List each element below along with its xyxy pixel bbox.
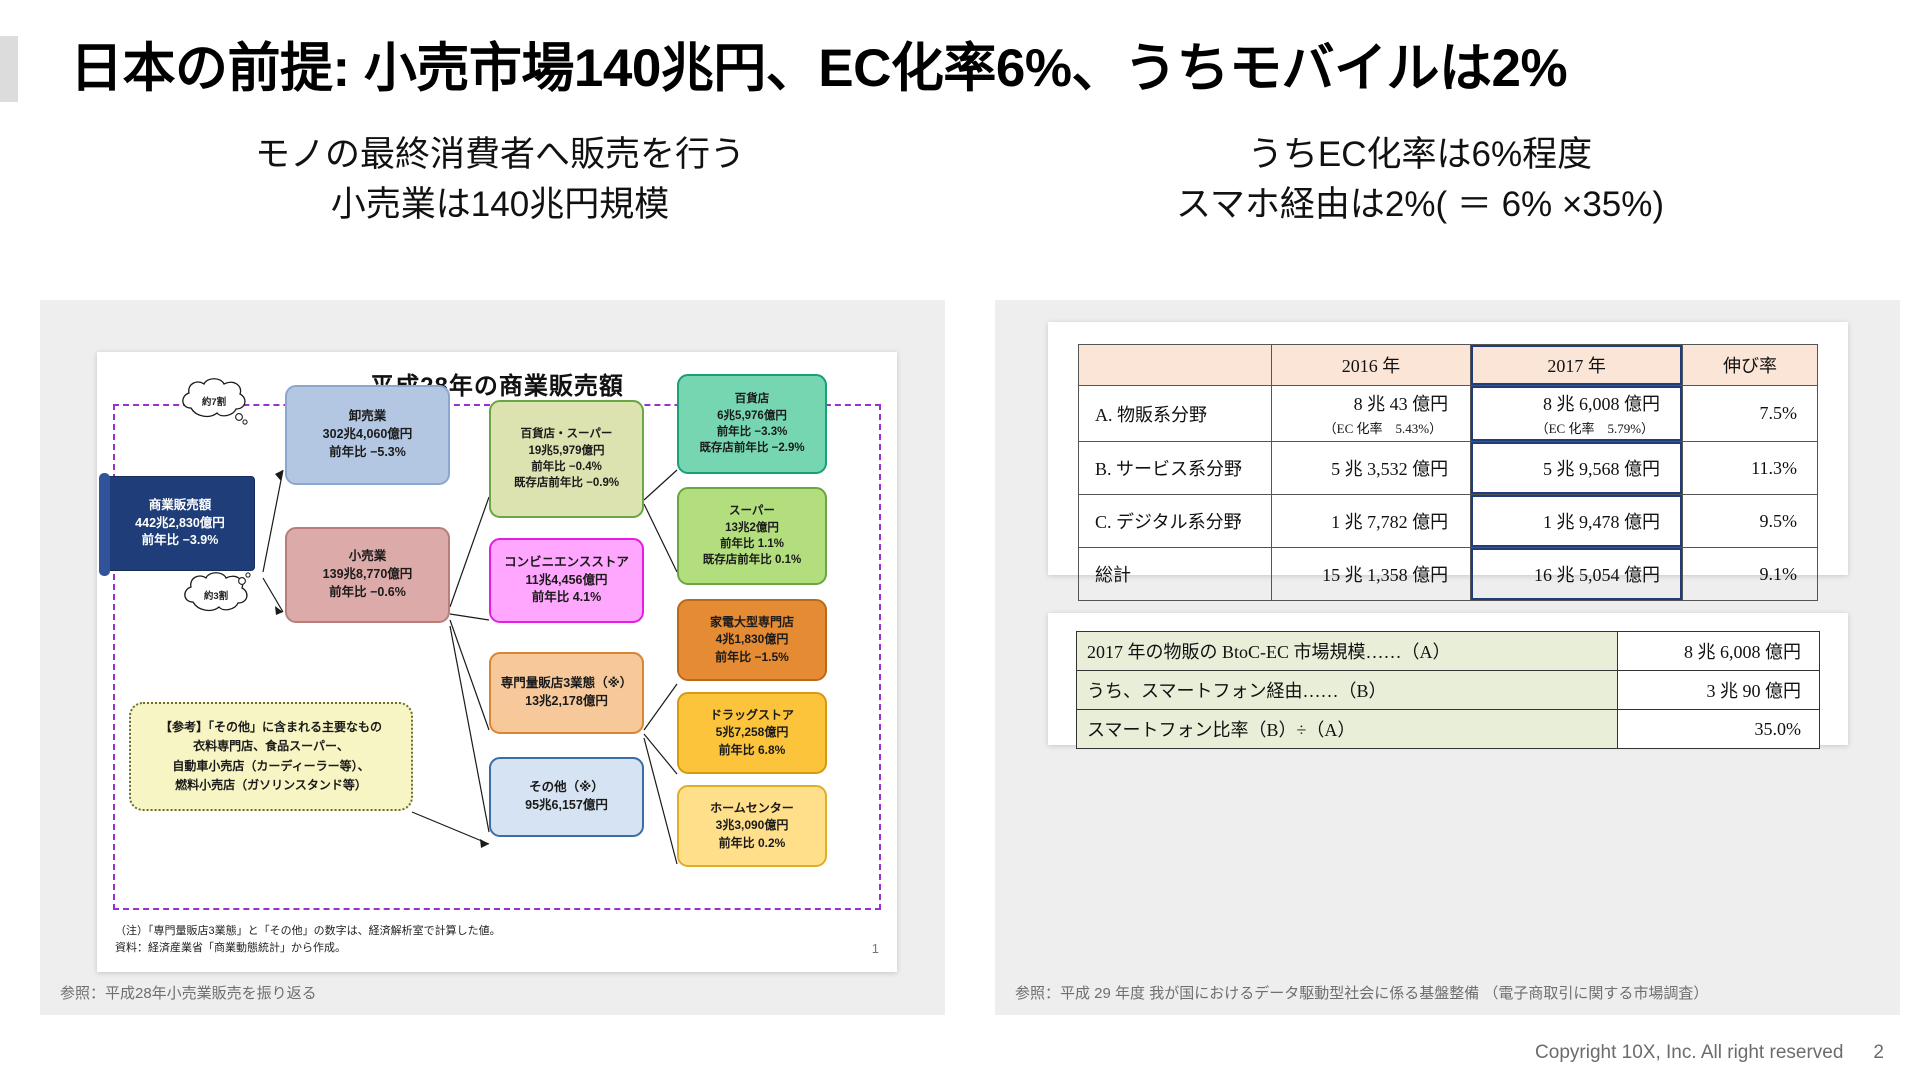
slide-footer: Copyright 10X, Inc. All right reserved 2	[1535, 1042, 1884, 1064]
reference-line-4: 燃料小売店（ガソリンスタンド等）	[175, 776, 367, 795]
cell-value: 8 兆 43 億円	[1354, 394, 1449, 414]
node-label: スーパー	[729, 503, 775, 519]
page-title: 日本の前提: 小売市場140兆円、EC化率6%、うちモバイルは2%	[70, 26, 1870, 112]
cell-b-2016: 5 兆 3,532 億円	[1271, 442, 1470, 495]
ec-market-table-card: 2016 年 2017 年 伸び率 A. 物販系分野 8 兆 43 億円 （EC…	[1048, 322, 1848, 575]
node-label: 家電大型専門店	[710, 614, 794, 631]
sub-row-label-b: うち、スマートフォン経由……（B）	[1077, 671, 1618, 710]
cell-c-2016: 1 兆 7,782 億円	[1271, 495, 1470, 548]
retail-flow-diagram: 約7割 約3割 商業販売額 442兆2,830億円 前年比 −3.9% 卸売業 …	[97, 352, 897, 972]
node-value: 4兆1,830億円	[716, 631, 789, 648]
cell-value: 8 兆 6,008 億円	[1543, 394, 1660, 414]
node-label: その他（※）	[529, 779, 604, 797]
slide-title-row: 日本の前提: 小売市場140兆円、EC化率6%、うちモバイルは2%	[0, 26, 1920, 112]
th-blank	[1079, 345, 1272, 386]
node-total-commerce: 商業販売額 442兆2,830億円 前年比 −3.9%	[105, 476, 255, 571]
left-panel: 平成28年の商業販売額	[40, 300, 945, 1015]
cell-a-2017: 8 兆 6,008 億円 （EC 化率 5.79%）	[1471, 386, 1683, 442]
node-existing-yoy: 既存店前年比 −0.9%	[514, 475, 619, 491]
left-subtitle: モノの最終消費者へ販売を行う 小売業は140兆円規模	[40, 130, 960, 229]
node-drugstore: ドラッグストア 5兆7,258億円 前年比 6.8%	[677, 692, 827, 774]
node-existing-yoy: 既存店前年比 0.1%	[703, 552, 801, 568]
diagram-footnotes: （注）「専門量販店3業態」と「その他」の数字は、経済解析室で計算した値。 資料：…	[115, 923, 501, 956]
title-accent-bar	[0, 36, 18, 102]
node-value: 13兆2億円	[725, 520, 779, 536]
node-yoy: 前年比 6.8%	[719, 742, 786, 759]
left-subtitle-line2: 小売業は140兆円規模	[40, 180, 960, 230]
node-yoy: 前年比 −3.9%	[142, 532, 219, 550]
sub-row-value-b: 3 兆 90 億円	[1618, 671, 1820, 710]
table-row: C. デジタル系分野 1 兆 7,782 億円 1 兆 9,478 億円 9.5…	[1079, 495, 1818, 548]
table-row: A. 物販系分野 8 兆 43 億円 （EC 化率 5.43%） 8 兆 6,0…	[1079, 386, 1818, 442]
diagram-page-number: 1	[872, 941, 879, 956]
node-wholesale: 卸売業 302兆4,060億円 前年比 −5.3%	[285, 385, 450, 485]
node-value: 442兆2,830億円	[135, 515, 225, 533]
node-home-center: ホームセンター 3兆3,090億円 前年比 0.2%	[677, 785, 827, 867]
row-label-b: B. サービス系分野	[1079, 442, 1272, 495]
cloud-label-70pct: 約7割	[202, 394, 226, 408]
node-value: 13兆2,178億円	[525, 693, 608, 711]
right-subtitle: うちEC化率は6%程度 スマホ経由は2%( ＝ 6% ×35%)	[960, 130, 1880, 229]
cell-total-2016: 15 兆 1,358 億円	[1271, 548, 1470, 601]
sub-row-value-ratio: 35.0%	[1618, 710, 1820, 749]
node-label: 百貨店	[735, 391, 770, 407]
node-value: 95兆6,157億円	[525, 797, 608, 815]
right-panel-caption: 参照：平成 29 年度 我が国におけるデータ駆動型社会に係る基盤整備 （電子商取…	[1015, 982, 1886, 1003]
node-existing-yoy: 既存店前年比 −2.9%	[699, 440, 804, 456]
sub-row-label-ratio: スマートフォン比率（B）÷（A）	[1077, 710, 1618, 749]
smartphone-share-table: 2017 年の物販の BtoC-EC 市場規模……（A） 8 兆 6,008 億…	[1076, 631, 1820, 749]
left-subtitle-line1: モノの最終消費者へ販売を行う	[40, 130, 960, 180]
node-specialty-mass-retail: 専門量販店3業態（※） 13兆2,178億円	[489, 652, 644, 734]
row-label-total: 総計	[1079, 548, 1272, 601]
th-growth: 伸び率	[1683, 345, 1818, 386]
table-row: B. サービス系分野 5 兆 3,532 億円 5 兆 9,568 億円 11.…	[1079, 442, 1818, 495]
node-yoy: 前年比 1.1%	[720, 536, 784, 552]
right-subtitle-line2: スマホ経由は2%( ＝ 6% ×35%)	[960, 180, 1880, 230]
node-department-supermarket: 百貨店・スーパー 19兆5,979億円 前年比 −0.4% 既存店前年比 −0.…	[489, 400, 644, 518]
slide-page-number: 2	[1873, 1042, 1884, 1064]
node-yoy: 前年比 −1.5%	[715, 649, 789, 666]
copyright-text: Copyright 10X, Inc. All right reserved	[1535, 1042, 1843, 1064]
node-value: 139兆8,770億円	[323, 566, 413, 584]
footnote-line-1: （注）「専門量販店3業態」と「その他」の数字は、経済解析室で計算した値。	[115, 923, 501, 940]
retail-diagram-card: 平成28年の商業販売額	[97, 352, 897, 972]
row-label-c: C. デジタル系分野	[1079, 495, 1272, 548]
table-row: うち、スマートフォン経由……（B） 3 兆 90 億円	[1077, 671, 1820, 710]
table-header-row: 2016 年 2017 年 伸び率	[1079, 345, 1818, 386]
node-label: 卸売業	[349, 408, 387, 426]
cloud-bubble-30pct: 約3割	[179, 570, 253, 620]
cell-total-growth: 9.1%	[1683, 548, 1818, 601]
cell-subnote: （EC 化率 5.79%）	[1481, 418, 1660, 437]
node-department-store: 百貨店 6兆5,976億円 前年比 −3.3% 既存店前年比 −2.9%	[677, 374, 827, 474]
node-value: 5兆7,258億円	[716, 724, 789, 741]
node-value: 302兆4,060億円	[323, 426, 413, 444]
ec-market-table: 2016 年 2017 年 伸び率 A. 物販系分野 8 兆 43 億円 （EC…	[1078, 344, 1818, 601]
reference-note-box: 【参考】「その他」に含まれる主要なもの 衣料専門店、食品スーパー、 自動車小売店…	[129, 702, 413, 811]
table-row: スマートフォン比率（B）÷（A） 35.0%	[1077, 710, 1820, 749]
table-row: 2017 年の物販の BtoC-EC 市場規模……（A） 8 兆 6,008 億…	[1077, 632, 1820, 671]
cloud-label-30pct: 約3割	[204, 588, 228, 602]
node-yoy: 前年比 −3.3%	[717, 424, 788, 440]
left-panel-caption: 参照：平成28年小売業販売を振り返る	[60, 982, 931, 1003]
row-label-a: A. 物販系分野	[1079, 386, 1272, 442]
right-panel: 2016 年 2017 年 伸び率 A. 物販系分野 8 兆 43 億円 （EC…	[995, 300, 1900, 1015]
node-retail: 小売業 139兆8,770億円 前年比 −0.6%	[285, 527, 450, 623]
cell-a-2016: 8 兆 43 億円 （EC 化率 5.43%）	[1271, 386, 1470, 442]
sub-row-label-a: 2017 年の物販の BtoC-EC 市場規模……（A）	[1077, 632, 1618, 671]
node-yoy: 前年比 −5.3%	[329, 444, 406, 462]
node-label: 百貨店・スーパー	[521, 426, 613, 442]
node-label: 商業販売額	[149, 497, 212, 515]
th-2017: 2017 年	[1471, 345, 1683, 386]
node-yoy: 前年比 −0.4%	[531, 459, 602, 475]
smartphone-share-table-card: 2017 年の物販の BtoC-EC 市場規模……（A） 8 兆 6,008 億…	[1048, 613, 1848, 745]
node-value: 11兆4,456億円	[526, 572, 608, 590]
right-subtitle-line1: うちEC化率は6%程度	[960, 130, 1880, 180]
cell-subnote: （EC 化率 5.43%）	[1282, 418, 1448, 437]
footnote-line-2: 資料：経済産業省「商業動態統計」から作成。	[115, 940, 501, 957]
cloud-bubble-70pct: 約7割	[177, 376, 251, 426]
reference-line-1: 【参考】「その他」に含まれる主要なもの	[160, 718, 382, 737]
reference-line-3: 自動車小売店（カーディーラー等）、	[172, 757, 369, 776]
node-label: ホームセンター	[710, 800, 794, 817]
node-supermarket: スーパー 13兆2億円 前年比 1.1% 既存店前年比 0.1%	[677, 487, 827, 585]
node-value: 3兆3,090億円	[716, 817, 789, 834]
cell-b-2017: 5 兆 9,568 億円	[1471, 442, 1683, 495]
reference-line-2: 衣料専門店、食品スーパー、	[193, 737, 349, 756]
sub-row-value-a: 8 兆 6,008 億円	[1618, 632, 1820, 671]
node-yoy: 前年比 −0.6%	[329, 584, 406, 602]
table-row: 総計 15 兆 1,358 億円 16 兆 5,054 億円 9.1%	[1079, 548, 1818, 601]
node-label: ドラッグストア	[710, 707, 794, 724]
cell-c-growth: 9.5%	[1683, 495, 1818, 548]
node-label: 小売業	[349, 548, 387, 566]
th-2016: 2016 年	[1271, 345, 1470, 386]
cell-total-2017: 16 兆 5,054 億円	[1471, 548, 1683, 601]
node-electronics-store: 家電大型専門店 4兆1,830億円 前年比 −1.5%	[677, 599, 827, 681]
node-value: 19兆5,979億円	[528, 443, 604, 459]
node-other: その他（※） 95兆6,157億円	[489, 757, 644, 837]
node-label: 専門量販店3業態（※）	[501, 675, 633, 693]
cell-b-growth: 11.3%	[1683, 442, 1818, 495]
node-label: コンビニエンスストア	[504, 554, 629, 572]
node-yoy: 前年比 0.2%	[719, 835, 786, 852]
cell-c-2017: 1 兆 9,478 億円	[1471, 495, 1683, 548]
node-value: 6兆5,976億円	[717, 408, 787, 424]
cell-a-growth: 7.5%	[1683, 386, 1818, 442]
node-convenience-store: コンビニエンスストア 11兆4,456億円 前年比 4.1%	[489, 538, 644, 623]
node-yoy: 前年比 4.1%	[532, 589, 601, 607]
